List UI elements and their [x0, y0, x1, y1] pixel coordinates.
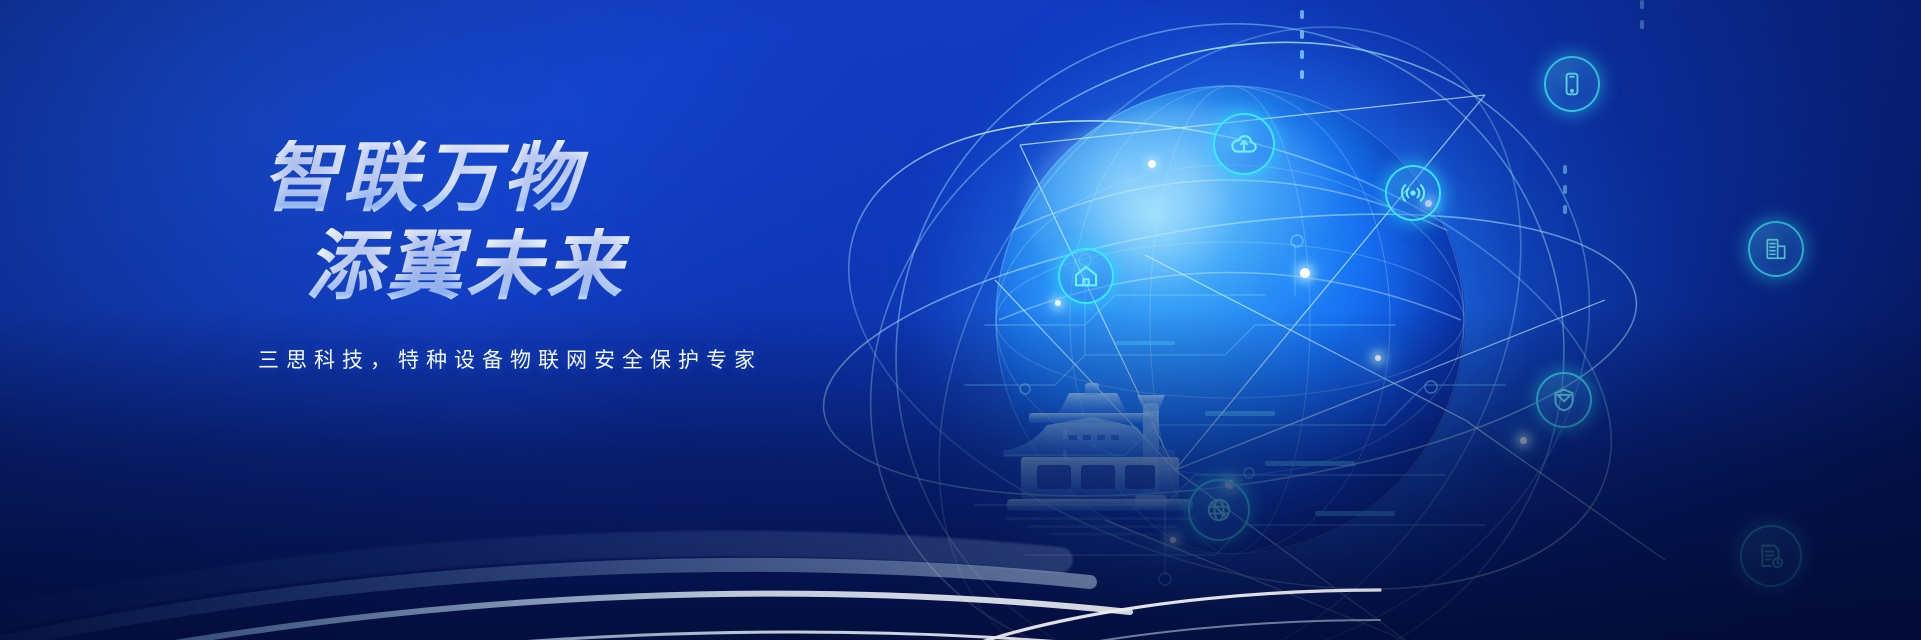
headline: 智联万物 添翼未来	[250, 140, 1010, 304]
headline-line-1: 智联万物	[262, 140, 1010, 216]
hero-copy: 智联万物 添翼未来 三思科技，特种设备物联网安全保护专家	[250, 140, 1010, 374]
hero-subtitle: 三思科技，特种设备物联网安全保护专家	[258, 344, 1010, 374]
hero-banner: 智联万物 添翼未来 三思科技，特种设备物联网安全保护专家	[0, 0, 1921, 640]
headline-line-2: 添翼未来	[306, 228, 1010, 304]
